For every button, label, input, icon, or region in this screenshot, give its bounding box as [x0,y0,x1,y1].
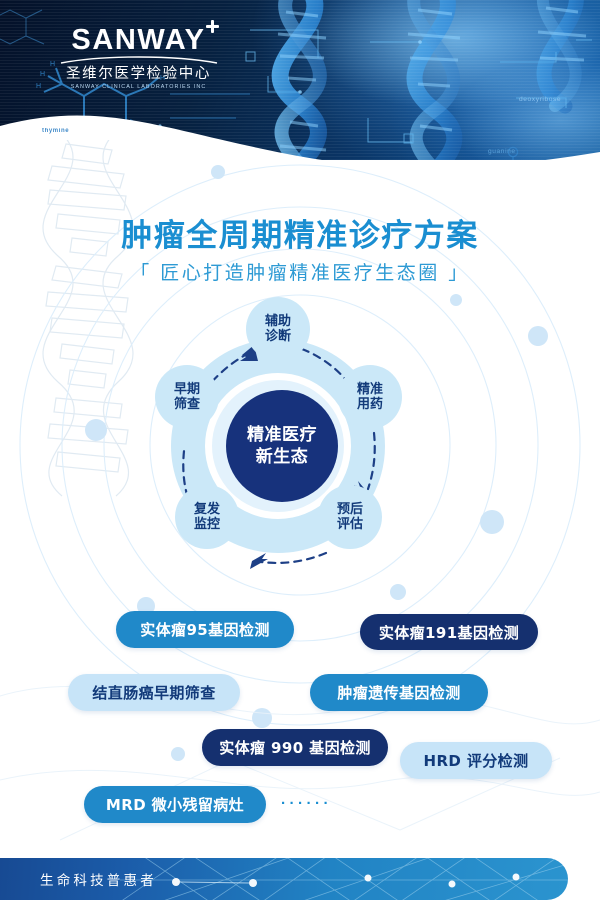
pill-label: 结直肠癌早期筛查 [92,682,215,703]
service-pill-solid-tumor-95[interactable]: 实体瘤95基因检测 [116,611,294,648]
cycle-node-label: 辅助 诊断 [265,314,291,345]
service-pill-solid-tumor-990[interactable]: 实体瘤 990 基因检测 [202,729,388,766]
dna-label-deoxyribose: deoxyribose [519,96,561,103]
page-title: 肿瘤全周期精准诊疗方案 [0,210,600,255]
logo-wordmark: SANWAY [71,24,205,56]
cycle-core-label: 精准医疗 新生态 [226,390,338,502]
dna-label-thymine: thymine [42,128,69,134]
pill-label: 实体瘤95基因检测 [140,619,269,640]
logo-chinese-name: 圣维尔医学检验中心 [46,65,231,83]
pill-label: MRD 微小残留病灶 [106,794,244,815]
cycle-node-early-screening[interactable]: 早期 筛查 [155,365,219,429]
footer-slogan: 生命科技普惠者 [40,869,157,889]
cycle-node-label: 预后 评估 [337,502,363,533]
pill-label: 实体瘤 990 基因检测 [219,737,371,758]
cycle-node-label: 早期 筛查 [174,382,200,413]
poster-root: H H H H N deoxyribose guanine thym [0,0,600,900]
cycle-node-auxiliary-diagnosis[interactable]: 辅助 诊断 [246,297,310,361]
medical-cross-icon [206,20,219,33]
header-banner: H H H H N deoxyribose guanine thym [0,0,600,160]
pill-label: 实体瘤191基因检测 [379,622,519,643]
cycle-core-text: 精准医疗 新生态 [247,424,317,468]
service-pill-hereditary-tumor[interactable]: 肿瘤遗传基因检测 [310,674,488,711]
page-subtitle: 「 匠心打造肿瘤精准医疗生态圈 」 [0,258,600,285]
pills-ellipsis: ······ [281,795,332,812]
service-pill-solid-tumor-191[interactable]: 实体瘤191基因检测 [360,614,538,650]
service-pill-hrd-score[interactable]: HRD 评分检测 [400,742,552,779]
cycle-node-recurrence-monitoring[interactable]: 复发 监控 [175,485,239,549]
pill-label: HRD 评分检测 [424,750,529,771]
logo-arc-divider [59,56,219,65]
logo-english-name: SANWAY CLINICAL LABORATORIES INC [46,84,231,90]
footer-bar: 生命科技普惠者 [0,858,568,900]
precision-medicine-cycle-diagram: 辅助 诊断 精准 用药 预后 评估 复发 监控 早期 筛查 [130,295,470,595]
cycle-node-label: 复发 监控 [194,502,220,533]
service-pill-mrd-residual[interactable]: MRD 微小残留病灶 [84,786,266,823]
background-dna-outline [43,140,133,496]
pill-label: 肿瘤遗传基因检测 [337,682,460,703]
service-pill-colorectal-screening[interactable]: 结直肠癌早期筛查 [68,674,240,711]
brand-logo[interactable]: SANWAY 圣维尔医学检验中心 SANWAY CLINICAL LABORAT… [46,26,231,90]
logo-wordmark-row: SANWAY [71,26,205,55]
cycle-node-precision-medication[interactable]: 精准 用药 [338,365,402,429]
cycle-node-label: 精准 用药 [357,382,383,413]
cycle-node-prognosis-evaluation[interactable]: 预后 评估 [318,485,382,549]
